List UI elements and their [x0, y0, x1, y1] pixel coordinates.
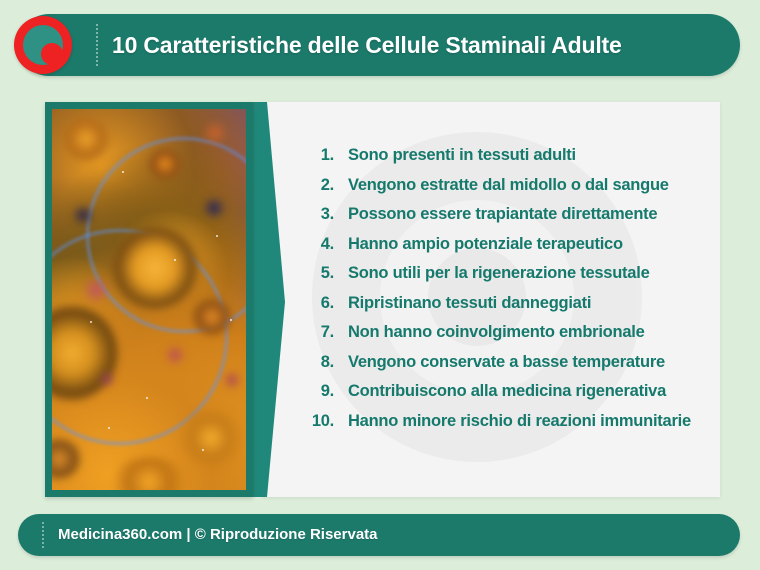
- list-item: 4. Hanno ampio potenziale terapeutico: [290, 235, 720, 265]
- nucleus-blob: [110, 457, 188, 490]
- nucleus-blob: [192, 299, 232, 335]
- list-item-label: Vengono conservate a basse temperature: [348, 353, 665, 372]
- list-item-number: 6.: [290, 294, 348, 313]
- list-item-label: Vengono estratte dal midollo o dal sangu…: [348, 176, 669, 195]
- list-item-number: 3.: [290, 205, 348, 224]
- list-item: 6. Ripristinano tessuti danneggiati: [290, 294, 720, 324]
- list-item-number: 4.: [290, 235, 348, 254]
- nucleus-blob: [148, 149, 182, 179]
- logo-middle-ring: [23, 25, 63, 65]
- list-item-label: Sono presenti in tessuti adulti: [348, 146, 576, 165]
- nucleus-blob: [52, 439, 82, 479]
- list-item: 8. Vengono conservate a basse temperatur…: [290, 353, 720, 383]
- list-item: 3. Possono essere trapiantate direttamen…: [290, 205, 720, 235]
- light-speck: [230, 319, 232, 321]
- list-item: 5. Sono utili per la rigenerazione tessu…: [290, 264, 720, 294]
- list-item-label: Ripristinano tessuti danneggiati: [348, 294, 591, 313]
- list-item-label: Non hanno coinvolgimento embrionale: [348, 323, 645, 342]
- page-title: 10 Caratteristiche delle Cellule Stamina…: [112, 14, 722, 76]
- list-item-number: 9.: [290, 382, 348, 401]
- nucleus-blob: [112, 227, 198, 309]
- list-item-label: Possono essere trapiantate direttamente: [348, 205, 657, 224]
- list-item: 10. Hanno minore rischio di reazioni imm…: [290, 412, 720, 442]
- light-speck: [122, 171, 124, 173]
- bullseye-logo-icon: [14, 16, 72, 74]
- vesicle-blob: [82, 277, 110, 303]
- list-item-label: Sono utili per la rigenerazione tessutal…: [348, 264, 650, 283]
- list-item-label: Hanno minore rischio di reazioni immunit…: [348, 412, 691, 431]
- list-item: 7. Non hanno coinvolgimento embrionale: [290, 323, 720, 353]
- vesicle-blob: [164, 345, 186, 365]
- infographic-canvas: 10 Caratteristiche delle Cellule Stamina…: [0, 0, 760, 570]
- light-speck: [108, 427, 110, 429]
- list-item-number: 5.: [290, 264, 348, 283]
- light-speck: [90, 321, 92, 323]
- light-speck: [216, 235, 218, 237]
- logo-center-dot: [41, 43, 63, 65]
- light-speck: [202, 449, 204, 451]
- stem-cell-image-frame: [45, 102, 253, 497]
- feature-list: 1. Sono presenti in tessuti adulti 2. Ve…: [290, 146, 720, 441]
- list-item-number: 2.: [290, 176, 348, 195]
- stem-cell-microscopy-image: [52, 109, 246, 490]
- nucleus-blob: [60, 117, 112, 161]
- nucleus-blob: [202, 121, 228, 145]
- list-item-number: 1.: [290, 146, 348, 165]
- list-item: 2. Vengono estratte dal midollo o dal sa…: [290, 176, 720, 206]
- vesicle-blob: [98, 371, 116, 387]
- footer-dotted-divider: [42, 522, 44, 548]
- footer-credit: Medicina360.com | © Riproduzione Riserva…: [58, 514, 378, 556]
- header-dotted-divider: [96, 24, 98, 66]
- vesicle-blob: [222, 371, 242, 389]
- list-item-label: Contribuiscono alla medicina rigenerativ…: [348, 382, 666, 401]
- list-item-number: 10.: [290, 412, 348, 431]
- list-item: 9. Contribuiscono alla medicina rigenera…: [290, 382, 720, 412]
- dark-organelle: [72, 205, 94, 225]
- nucleus-blob: [178, 409, 244, 467]
- dark-organelle: [202, 197, 226, 219]
- list-item-label: Hanno ampio potenziale terapeutico: [348, 235, 623, 254]
- list-item: 1. Sono presenti in tessuti adulti: [290, 146, 720, 176]
- light-speck: [174, 259, 176, 261]
- light-speck: [146, 397, 148, 399]
- list-item-number: 7.: [290, 323, 348, 342]
- list-item-number: 8.: [290, 353, 348, 372]
